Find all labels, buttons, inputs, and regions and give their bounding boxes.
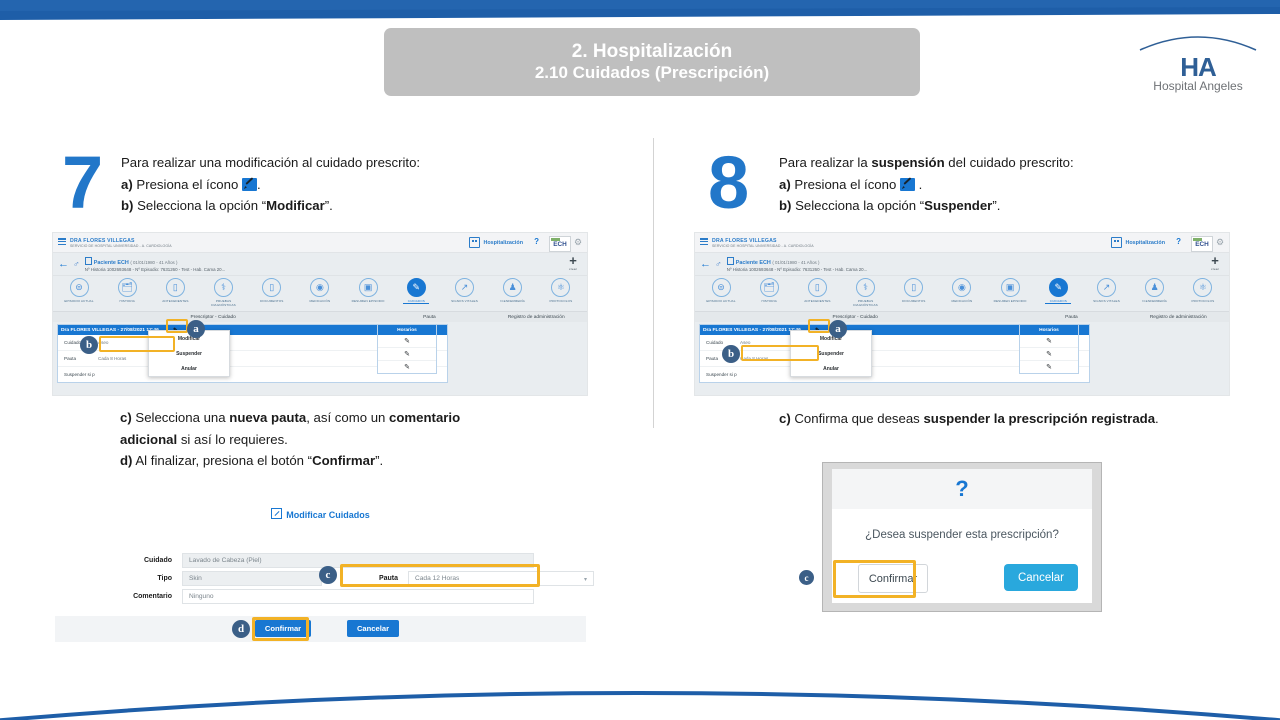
pencil-icon — [900, 178, 915, 191]
male-gender-icon: ♂ — [715, 259, 722, 269]
highlight-edit-pencil — [166, 319, 188, 333]
label-tipo: Tipo — [110, 575, 182, 582]
nav-item-n-enfermeria[interactable]: ♟N.ENFERMERÍA — [1135, 278, 1175, 303]
horario-row[interactable]: ✎ — [378, 348, 436, 361]
microscope-icon: ⚕ — [214, 278, 233, 297]
table-column-headers: Prescriptor - Cuidado Pauta Registro de … — [53, 311, 587, 322]
step-7-c-bold1: nueva pauta — [229, 410, 306, 425]
step-7-c-post: si así lo requieres. — [177, 432, 288, 447]
step-7-c-mid: , así como un — [306, 410, 389, 425]
hospital-icon — [469, 237, 480, 248]
logo-monogram: HA — [1128, 57, 1268, 77]
patient-name: Paciente ECH — [94, 260, 129, 266]
horarios-header: Horarios — [1020, 325, 1078, 335]
nurse-icon: ♟ — [1145, 278, 1164, 297]
highlight-edit-pencil — [808, 319, 830, 333]
step-7-instructions: Para realizar una modificación al cuidad… — [121, 152, 591, 217]
nav-item-signos-vitales[interactable]: ↗SIGNOS VITALES — [445, 278, 485, 303]
record-icon: ▯ — [166, 278, 185, 297]
edit-document-icon — [271, 508, 282, 519]
module-label: Hospitalización — [1111, 237, 1165, 248]
add-button[interactable]: + crear — [1211, 255, 1219, 271]
cancelar-button[interactable]: Cancelar — [347, 620, 399, 637]
highlight-confirmar-button — [252, 617, 309, 641]
col-prescriptor: Prescriptor - Cuidado — [53, 315, 373, 320]
nav-item-episodio-actual[interactable]: ⊜EPISODIO ACTUAL — [59, 278, 99, 303]
step-8-intro-bold: suspensión — [871, 155, 944, 170]
form-title-text: Modificar Cuidados — [286, 510, 370, 520]
step-7-c-bold3: adicional — [120, 432, 177, 447]
menu-item-anular[interactable]: Anular — [149, 361, 229, 376]
module-text: Hospitalización — [1125, 240, 1165, 246]
patient-details: Nº Historia 1002693648 - Nº Episodio: 76… — [727, 267, 868, 272]
ech-logo: ECH — [1191, 236, 1213, 252]
pill-icon: ◉ — [952, 278, 971, 297]
title-line-1: 2. Hospitalización — [572, 41, 732, 63]
pill-icon: ◉ — [310, 278, 329, 297]
microscope-icon: ⚕ — [856, 278, 875, 297]
highlight-dialog-confirmar — [833, 560, 916, 598]
plus-icon: + — [1211, 255, 1219, 267]
module-text: Hospitalización — [483, 240, 523, 246]
form-footer: Confirmar Cancelar — [55, 616, 586, 642]
field-tipo: Tipo Skin — [110, 571, 322, 586]
horario-row[interactable]: ✎ — [1020, 361, 1078, 373]
form-title: Modificar Cuidados — [55, 508, 586, 520]
step-8-line-a: a) Presiona el ícono . — [779, 174, 1239, 196]
logo-arc-icon — [1138, 30, 1258, 52]
nav-item-historia[interactable]: 🗂HISTORIA — [749, 278, 789, 303]
ech-logo: ECH — [549, 236, 571, 252]
menu-item-anular[interactable]: Anular — [791, 361, 871, 376]
page-title: 2. Hospitalización 2.10 Cuidados (Prescr… — [384, 28, 920, 96]
document-icon: ▯ — [904, 278, 923, 297]
input-comentario[interactable]: Ninguno — [182, 589, 534, 604]
pencil-icon — [242, 178, 257, 191]
step-7-b-bold: Modificar — [266, 198, 325, 213]
step-7-c-pre: Selecciona una — [135, 410, 229, 425]
step-7-c-bold2: comentario — [389, 410, 460, 425]
patient-bar: ← ♂ Paciente ECH ( 01/01/1980 - 41 Años … — [695, 253, 1229, 276]
horarios-card: Horarios ✎ ✎ ✎ — [377, 324, 437, 374]
column-divider — [653, 138, 654, 428]
pencil-icon: ✎ — [404, 364, 410, 371]
field-comentario: Comentario Ninguno — [110, 589, 534, 604]
nav-item-medicacion[interactable]: ◉MEDICACIÓN — [300, 278, 340, 303]
highlight-pauta-select — [340, 564, 540, 587]
nav-item-historia[interactable]: 🗂HISTORIA — [107, 278, 147, 303]
add-button[interactable]: + crear — [569, 255, 577, 271]
nurse-icon: ♟ — [503, 278, 522, 297]
folder-icon: 🗂 — [118, 278, 137, 297]
help-icon[interactable]: ? — [1176, 237, 1181, 246]
step-8-line-b: b) Selecciona la opción “Suspender”. — [779, 195, 1239, 217]
badge-d: d — [232, 620, 250, 638]
dialog-cancelar-button[interactable]: Cancelar — [1004, 564, 1078, 591]
horario-row[interactable]: ✎ — [1020, 335, 1078, 348]
patient-age: ( 01/01/1980 - 41 Años ) — [130, 260, 177, 265]
step-8-number: 8 — [708, 148, 749, 218]
question-icon: ? — [955, 476, 968, 502]
step-8-line-c: c) Confirma que deseas suspender la pres… — [779, 408, 1229, 430]
badge-c: c — [319, 566, 337, 584]
back-arrow-icon[interactable]: ← — [700, 259, 711, 270]
step-7-intro: Para realizar una modificación al cuidad… — [121, 152, 591, 174]
nav-item-episodio-actual[interactable]: ⊜EPISODIO ACTUAL — [701, 278, 741, 303]
protocol-icon: ⚛ — [551, 278, 570, 297]
step-8-a-suffix: . — [919, 177, 923, 192]
nav-item-resumen-episodio[interactable]: ▣RESUMEN EPISODIO — [348, 278, 388, 303]
highlight-modificar-option — [99, 336, 175, 352]
step-8-b-bold: Suspender — [924, 198, 992, 213]
step-7-b-pre: Selecciona la opción “ — [137, 198, 266, 213]
app-topbar: DRA FLORES VILLEGAS SERVICIO DE HOSPITAL… — [53, 233, 587, 253]
step-7-line-b: b) Selecciona la opción “Modificar”. — [121, 195, 591, 217]
hospital-icon — [1111, 237, 1122, 248]
record-icon: ▯ — [808, 278, 827, 297]
step-8-b-pre: Selecciona la opción “ — [795, 198, 924, 213]
step-7-number: 7 — [62, 148, 103, 218]
step-8-instructions: Para realizar la suspensión del cuidado … — [779, 152, 1239, 217]
patient-details: Nº Historia 1002693648 - Nº Episodio: 76… — [85, 267, 226, 272]
pencil-icon: ✎ — [1046, 338, 1052, 345]
app-topbar: DRA FLORES VILLEGAS SERVICIO DE HOSPITAL… — [695, 233, 1229, 253]
chart-icon: ↗ — [1097, 278, 1116, 297]
pencil-icon: ✎ — [407, 278, 426, 297]
step-7-d-bold: Confirmar — [312, 453, 375, 468]
step-7-line-c: c) Selecciona una nueva pauta, así como … — [120, 407, 590, 429]
menu-icon[interactable] — [700, 238, 708, 246]
document-icon: ▯ — [262, 278, 281, 297]
col-pauta: Pauta — [1015, 315, 1127, 320]
patient-bar: ← ♂ Paciente ECH ( 01/01/1980 - 41 Años … — [53, 253, 587, 276]
patient-age: ( 01/01/1980 - 41 Años ) — [772, 260, 819, 265]
department-label: SERVICIO DE HOSPITAL UNIVERSIDAD - A. CA… — [70, 244, 172, 248]
badge-a: a — [829, 320, 847, 338]
table-column-headers: Prescriptor - Cuidado Pauta Registro de … — [695, 311, 1229, 322]
add-caption: crear — [569, 267, 577, 271]
bottom-decoration — [0, 660, 1280, 720]
nav-item-medicacion[interactable]: ◉MEDICACIÓN — [942, 278, 982, 303]
protocol-icon: ⚛ — [1193, 278, 1212, 297]
pencil-icon: ✎ — [404, 338, 410, 345]
badge-c-dialog: c — [799, 570, 814, 585]
summary-icon: ▣ — [1001, 278, 1020, 297]
plus-icon: + — [569, 255, 577, 267]
step-8-c-prefix: c) — [779, 411, 791, 426]
chevron-down-icon: ▾ — [584, 576, 587, 583]
step-7-d-post: ”. — [375, 453, 383, 468]
module-label: Hospitalización — [469, 237, 523, 248]
step-8-c-bold: suspender la prescripción registrada — [923, 411, 1155, 426]
col-registro: Registro de administración — [486, 315, 587, 320]
step-8-c-instructions: c) Confirma que deseas suspender la pres… — [779, 408, 1229, 430]
step-8-intro: Para realizar la suspensión del cuidado … — [779, 152, 1239, 174]
badge-b: b — [722, 345, 740, 363]
app-screenshot-suspender: DRA FLORES VILLEGAS SERVICIO DE HOSPITAL… — [694, 232, 1230, 396]
nav-item-antecedentes[interactable]: ▯ANTECEDENTES — [155, 278, 195, 303]
horario-row[interactable]: ✎ — [378, 361, 436, 373]
nav-item-protocolos[interactable]: ⚛PROTOCOLOS — [1183, 278, 1223, 303]
step-7-d-prefix: d) — [120, 453, 132, 468]
step-7-line-a: a) Presiona el ícono . — [121, 174, 591, 196]
summary-icon: ▣ — [359, 278, 378, 297]
step-7-cd-instructions: c) Selecciona una nueva pauta, así como … — [120, 407, 590, 472]
patient-card-icon — [727, 257, 734, 265]
add-caption: crear — [1211, 267, 1219, 271]
dialog-message: ¿Desea suspender esta prescripción? — [832, 509, 1092, 561]
help-icon[interactable]: ? — [534, 237, 539, 246]
nav-icon-row: ⊜EPISODIO ACTUAL 🗂HISTORIA ▯ANTECEDENTES… — [695, 276, 1229, 311]
nav-item-pruebas-diagnosticas[interactable]: ⚕PRUEBAS DIAGNÓSTICAS — [846, 278, 886, 307]
title-line-2: 2.10 Cuidados (Prescripción) — [535, 63, 769, 83]
col-pauta: Pauta — [373, 315, 485, 320]
horarios-card: Horarios ✎ ✎ ✎ — [1019, 324, 1079, 374]
patient-name-row: Paciente ECH ( 01/01/1980 - 41 Años ) — [85, 257, 226, 266]
patient-name: Paciente ECH — [736, 260, 771, 266]
gear-icon[interactable]: ⚙ — [574, 237, 584, 247]
nav-item-n-enfermeria[interactable]: ♟N.ENFERMERÍA — [493, 278, 533, 303]
nav-item-cuidados[interactable]: ✎CUIDADOS — [1038, 278, 1078, 303]
pencil-icon: ✎ — [1046, 364, 1052, 371]
hospital-angeles-logo: HA Hospital Angeles — [1128, 30, 1268, 92]
nav-item-documentos[interactable]: ▯DOCUMENTOS — [252, 278, 292, 303]
step-8-b-post: ”. — [992, 198, 1000, 213]
step-7-a-text: Presiona el ícono — [136, 177, 238, 192]
patient-card-icon — [85, 257, 92, 265]
step-7-line-c2: adicional si así lo requieres. — [120, 429, 590, 451]
step-8-intro-post: del cuidado prescrito: — [945, 155, 1074, 170]
step-7-line-d: d) Al finalizar, presiona el botón “Conf… — [120, 450, 590, 472]
badge-b: b — [80, 336, 98, 354]
pencil-icon: ✎ — [1049, 278, 1068, 297]
back-arrow-icon[interactable]: ← — [58, 259, 69, 270]
nav-item-protocolos[interactable]: ⚛PROTOCOLOS — [541, 278, 581, 303]
top-banner — [0, 0, 1280, 24]
step-8-c-post: . — [1155, 411, 1159, 426]
highlight-suspender-option — [741, 345, 819, 361]
horario-row[interactable]: ✎ — [378, 335, 436, 348]
department-label: SERVICIO DE HOSPITAL UNIVERSIDAD - A. CA… — [712, 244, 814, 248]
nav-item-antecedentes[interactable]: ▯ANTECEDENTES — [797, 278, 837, 303]
step-8-a-text: Presiona el ícono — [794, 177, 896, 192]
nav-item-signos-vitales[interactable]: ↗SIGNOS VITALES — [1087, 278, 1127, 303]
step-8-a-prefix: a) — [779, 177, 791, 192]
episode-icon: ⊜ — [712, 278, 731, 297]
folder-icon: 🗂 — [760, 278, 779, 297]
label-comentario: Comentario — [110, 593, 182, 600]
logo-wordmark: Hospital Angeles — [1128, 79, 1268, 93]
nav-item-resumen-episodio[interactable]: ▣RESUMEN EPISODIO — [990, 278, 1030, 303]
step-7-c-prefix: c) — [120, 410, 132, 425]
step-7-a-prefix: a) — [121, 177, 133, 192]
step-8-intro-pre: Para realizar la — [779, 155, 871, 170]
horarios-header: Horarios — [378, 325, 436, 335]
step-8-c-pre: Confirma que deseas — [794, 411, 923, 426]
menu-icon[interactable] — [58, 238, 66, 246]
input-tipo: Skin — [182, 571, 322, 586]
badge-a: a — [187, 320, 205, 338]
patient-name-row: Paciente ECH ( 01/01/1980 - 41 Años ) — [727, 257, 868, 266]
app-screenshot-modificar: DRA FLORES VILLEGAS SERVICIO DE HOSPITAL… — [52, 232, 588, 396]
male-gender-icon: ♂ — [73, 259, 80, 269]
col-prescriptor: Prescriptor - Cuidado — [695, 315, 1015, 320]
gear-icon[interactable]: ⚙ — [1216, 237, 1226, 247]
dialog-header: ? — [832, 469, 1092, 509]
ech-text: ECH — [1195, 241, 1209, 248]
pencil-icon: ✎ — [1046, 351, 1052, 358]
step-7-a-suffix: . — [257, 177, 261, 192]
nav-item-documentos[interactable]: ▯DOCUMENTOS — [894, 278, 934, 303]
prescription-header-text: Dra FLORES VILLEGAS - 27/08/2021 17:46 — [61, 328, 159, 333]
table-body: Dra FLORES VILLEGAS - 27/08/2021 17:46 ✎… — [53, 322, 587, 396]
episode-icon: ⊜ — [70, 278, 89, 297]
nav-item-pruebas-diagnosticas[interactable]: ⚕PRUEBAS DIAGNÓSTICAS — [204, 278, 244, 307]
nav-icon-row: ⊜EPISODIO ACTUAL 🗂HISTORIA ▯ANTECEDENTES… — [53, 276, 587, 311]
pencil-icon: ✎ — [404, 351, 410, 358]
label-cuidado: Cuidado — [110, 557, 182, 564]
col-registro: Registro de administración — [1128, 315, 1229, 320]
nav-item-cuidados[interactable]: ✎CUIDADOS — [396, 278, 436, 303]
chart-icon: ↗ — [455, 278, 474, 297]
horario-row[interactable]: ✎ — [1020, 348, 1078, 361]
step-8-b-prefix: b) — [779, 198, 791, 213]
step-7-d-pre: Al finalizar, presiona el botón “ — [135, 453, 312, 468]
prescription-header-text: Dra FLORES VILLEGAS - 27/08/2021 17:46 — [703, 328, 801, 333]
ech-text: ECH — [553, 241, 567, 248]
step-7-b-post: ”. — [325, 198, 333, 213]
step-7-b-prefix: b) — [121, 198, 133, 213]
